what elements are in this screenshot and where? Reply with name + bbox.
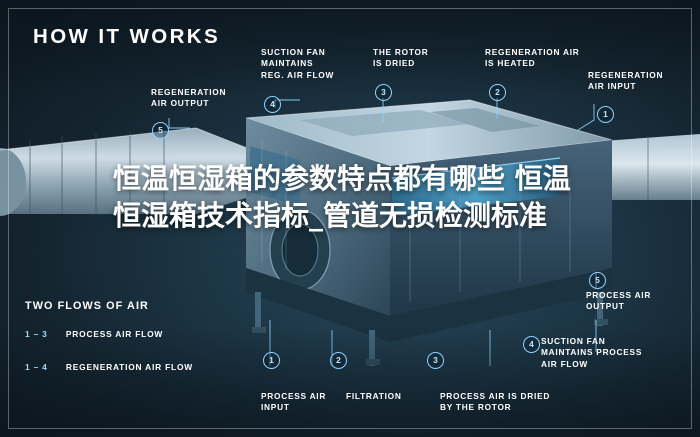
callout-regeneration-air-heated-label: REGENERATION AIR IS HEATED <box>485 47 580 70</box>
legend-row-process: 1 – 3 PROCESS AIR FLOW <box>25 329 163 339</box>
legend-row-regeneration: 1 – 4 REGENERATION AIR FLOW <box>25 362 193 372</box>
callout-regeneration-air-input-label: REGENERATION AIR INPUT <box>588 70 663 93</box>
callout-suction-fan-reg-label: SUCTION FAN MAINTAINS REG. AIR FLOW <box>261 47 334 81</box>
callout-regeneration-air-output-label: REGENERATION AIR OUTPUT <box>151 87 226 110</box>
marker-5-reg-output[interactable]: 5 <box>152 122 169 139</box>
legend-range-regeneration: 1 – 4 <box>25 362 48 372</box>
callout-filtration-label: FILTRATION <box>346 391 402 402</box>
overlay-headline: 恒温恒湿箱的参数特点都有哪些 恒温恒湿箱技术指标_管道无损检测标准 <box>113 160 593 234</box>
marker-1-reg-input[interactable]: 1 <box>597 106 614 123</box>
legend-label-regeneration: REGENERATION AIR FLOW <box>66 362 193 372</box>
marker-2-heated[interactable]: 2 <box>489 84 506 101</box>
legend-range-process: 1 – 3 <box>25 329 48 339</box>
marker-4-suction-proc[interactable]: 4 <box>523 336 540 353</box>
callout-suction-fan-process-label: SUCTION FAN MAINTAINS PROCESS AIR FLOW <box>541 336 642 370</box>
legend-label-process: PROCESS AIR FLOW <box>66 329 163 339</box>
marker-3-rotor[interactable]: 3 <box>375 84 392 101</box>
marker-2-filtration[interactable]: 2 <box>330 352 347 369</box>
page-title: HOW IT WORKS <box>33 25 220 49</box>
marker-5-process-out[interactable]: 5 <box>589 272 606 289</box>
callout-process-air-dried-label: PROCESS AIR IS DRIED BY THE ROTOR <box>440 391 550 414</box>
marker-4-regeneration[interactable]: 4 <box>264 96 281 113</box>
legend-title: TWO FLOWS OF AIR <box>25 300 149 312</box>
marker-3-process-dried[interactable]: 3 <box>427 352 444 369</box>
callout-process-air-input-label: PROCESS AIR INPUT <box>261 391 326 414</box>
diagram-page: HOW IT WORKS SUCTION FAN MAINTAINS REG. … <box>0 0 700 437</box>
marker-1-process-input[interactable]: 1 <box>263 352 280 369</box>
callout-rotor-dried-label: THE ROTOR IS DRIED <box>373 47 428 70</box>
callout-process-air-output-label: PROCESS AIR OUTPUT <box>586 290 651 313</box>
